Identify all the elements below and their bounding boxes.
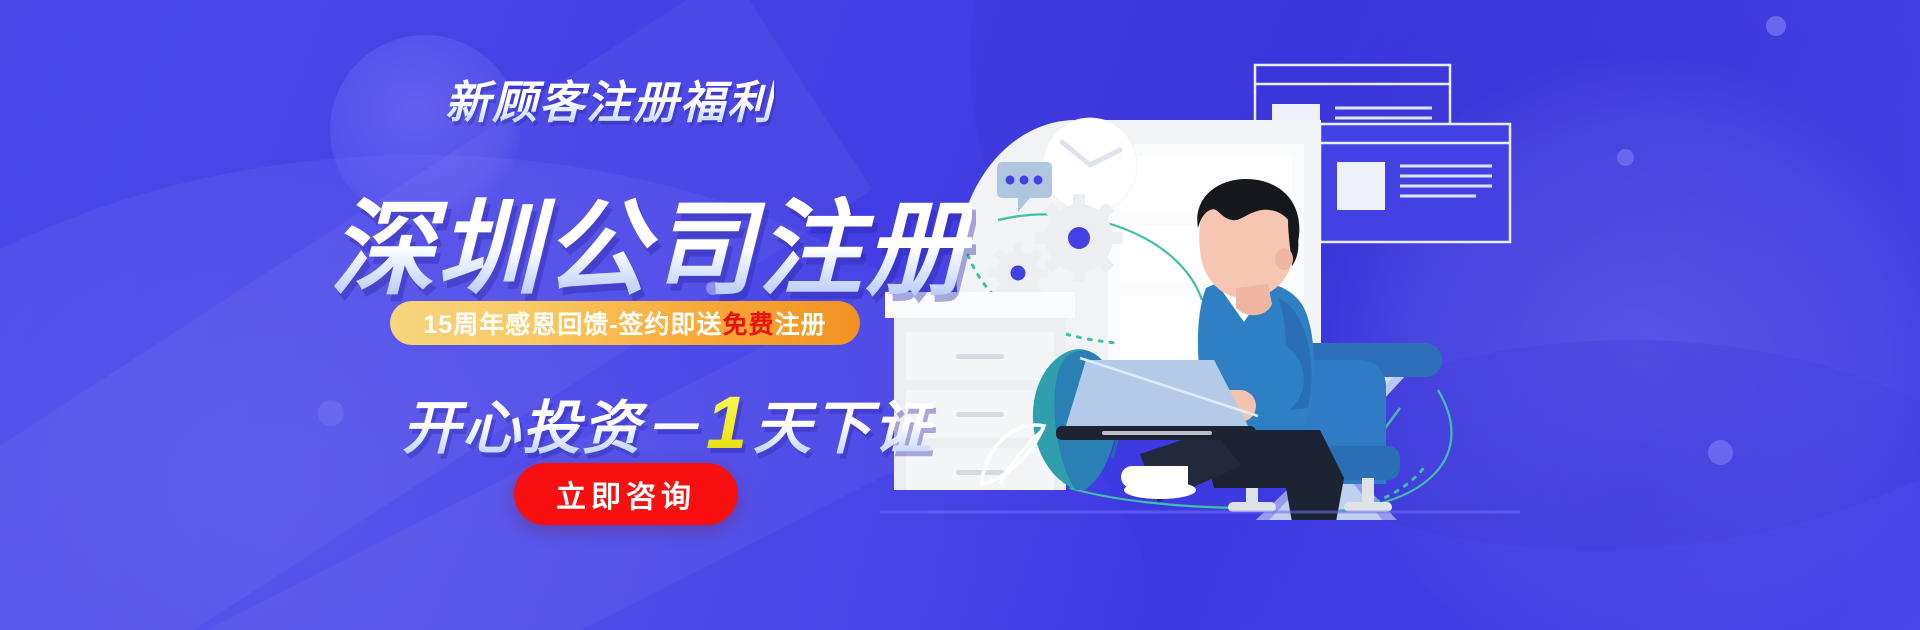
- promo-banner: 新顾客注册福利 深圳公司注册 15周年感恩回馈-签约即送 免费 注册 开心投资－…: [0, 0, 1920, 630]
- document-card: [1320, 124, 1510, 242]
- eyebrow-text: 新顾客注册福利: [445, 66, 774, 131]
- badge-suffix: 注册: [775, 305, 827, 341]
- subline-after: 天下证: [753, 381, 933, 465]
- page-title: 深圳公司注册: [330, 196, 972, 305]
- hero-illustration: [880, 60, 1920, 520]
- promo-badge: 15周年感恩回馈-签约即送 免费 注册: [390, 301, 860, 345]
- sub-headline: 开心投资－ 1 天下证: [402, 380, 933, 465]
- decorative-dot: [1766, 16, 1786, 36]
- badge-highlight: 免费: [723, 305, 775, 341]
- consult-now-button[interactable]: 立即咨询: [514, 463, 738, 525]
- copy-block: 新顾客注册福利 深圳公司注册 15周年感恩回馈-签约即送 免费 注册 开心投资－…: [0, 0, 960, 630]
- subline-number: 1: [702, 380, 753, 465]
- subline-before: 开心投资－: [402, 381, 702, 465]
- badge-prefix: 15周年感恩回馈-签约即送: [423, 305, 722, 341]
- clock-icon: [1043, 118, 1137, 212]
